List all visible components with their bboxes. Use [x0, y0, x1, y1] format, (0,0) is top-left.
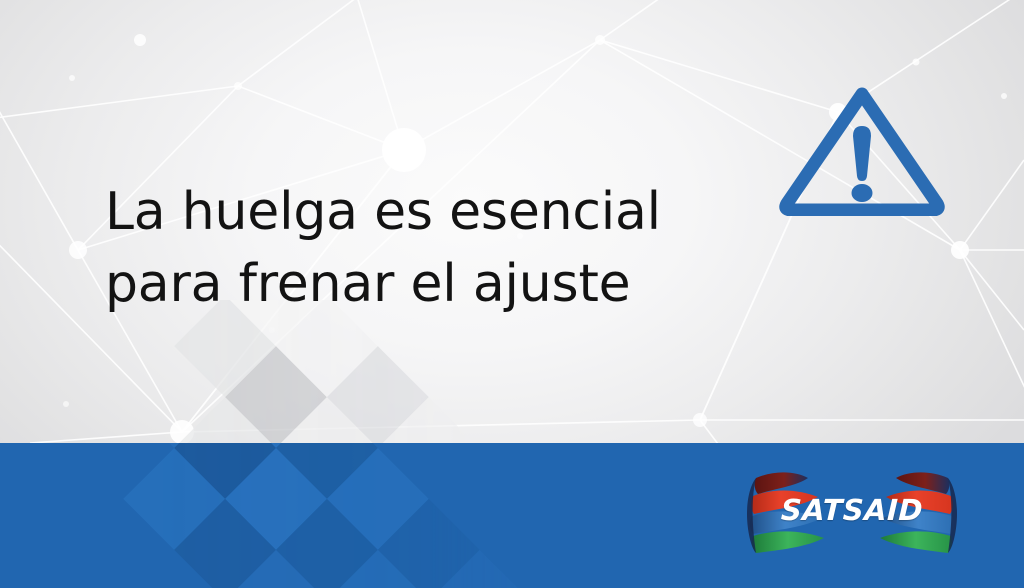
page-title: La huelga es esencial para frenar el aju…	[105, 176, 725, 320]
slide-canvas: La huelga es esencial para frenar el aju…	[0, 0, 1024, 588]
satsaid-logo[interactable]: SATSAID	[744, 464, 960, 556]
logo-ribbons-icon	[744, 464, 960, 556]
warning-triangle-icon	[778, 80, 946, 216]
